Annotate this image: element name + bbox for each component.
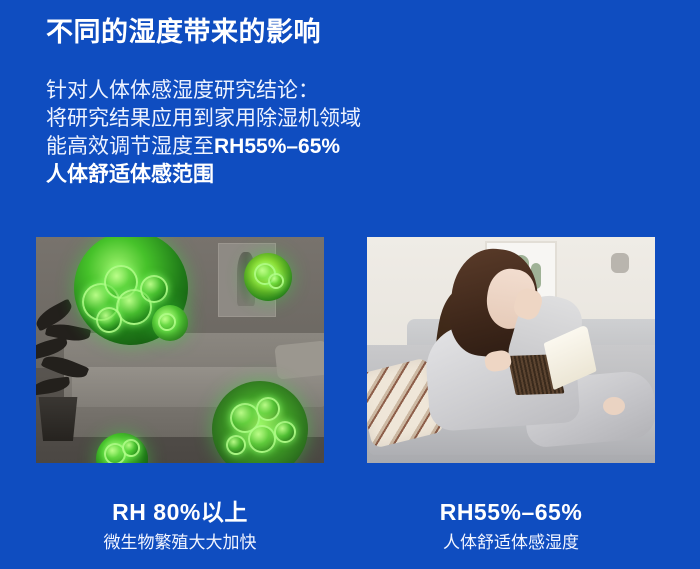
caption-title: RH55%–65%	[367, 498, 655, 526]
body-line-2: 将研究结果应用到家用除湿机领域	[46, 105, 361, 133]
caption-subtitle: 微生物繁殖大大加快	[36, 530, 324, 556]
microbe-bottom-icon	[96, 433, 148, 463]
body-line-3-prefix: 能高效调节湿度至	[46, 135, 214, 158]
body-line-3: 能高效调节湿度至RH55%–65%	[46, 133, 361, 161]
microbe-icon	[244, 253, 292, 301]
plant-leaf	[36, 376, 71, 395]
caption-subtitle: 人体舒适体感湿度	[367, 530, 655, 556]
woman-reading-figure	[407, 247, 627, 457]
caption-title: RH 80%以上	[36, 498, 324, 526]
microbe-small-icon	[152, 305, 188, 341]
photo-comfort-humidity	[367, 237, 655, 463]
humidity-comparison-poster: 不同的湿度带来的影响 针对人体体感湿度研究结论： 将研究结果应用到家用除湿机领域…	[0, 0, 700, 569]
body-line-4: 人体舒适体感范围	[46, 161, 361, 189]
body-copy: 针对人体体感湿度研究结论： 将研究结果应用到家用除湿机领域 能高效调节湿度至RH…	[46, 77, 361, 189]
plant-pot	[36, 397, 80, 441]
photo-panels	[0, 237, 700, 463]
page-title: 不同的湿度带来的影响	[46, 16, 321, 50]
photo-high-humidity	[36, 237, 324, 463]
caption-comfort-humidity: RH55%–65% 人体舒适体感湿度	[367, 498, 655, 556]
body-line-1: 针对人体体感湿度研究结论：	[46, 77, 361, 105]
humidity-range-highlight: RH55%–65%	[214, 135, 340, 158]
caption-high-humidity: RH 80%以上 微生物繁殖大大加快	[36, 498, 324, 556]
foot	[603, 397, 625, 415]
dark-living-room-scene	[36, 237, 324, 463]
bright-living-room-scene	[367, 237, 655, 463]
